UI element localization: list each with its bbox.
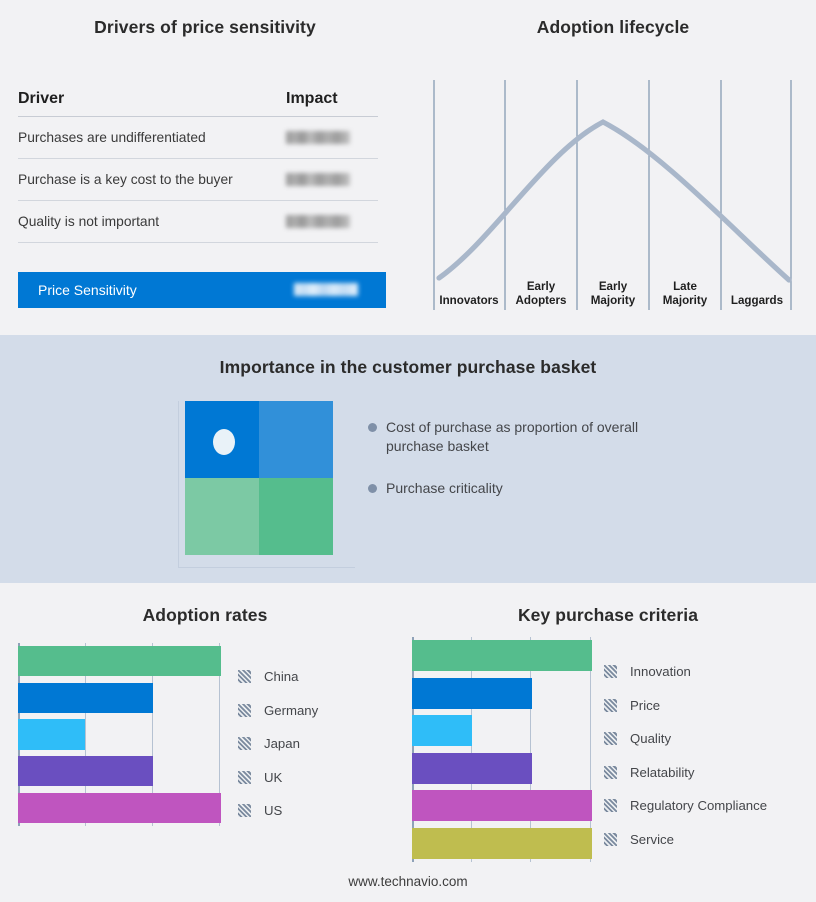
legend-item-japan: Japan bbox=[238, 727, 398, 761]
bar-slot-innovation bbox=[412, 637, 592, 675]
bar-slot-quality bbox=[412, 712, 592, 750]
legend-item-quality: Quality bbox=[604, 722, 814, 756]
bar-china bbox=[18, 646, 221, 676]
bar-slot-service bbox=[412, 825, 592, 863]
segment-line2: Majority bbox=[663, 294, 707, 308]
hatched-square-icon bbox=[238, 771, 251, 784]
legend-item-china: China bbox=[238, 660, 398, 694]
legend-item-germany: Germany bbox=[238, 694, 398, 728]
hatched-square-icon bbox=[238, 804, 251, 817]
adoption-rates-legend: China Germany Japan UK US bbox=[238, 660, 398, 828]
purchase-basket-legend: Cost of purchase as proportion of overal… bbox=[368, 418, 688, 521]
bar-price bbox=[412, 678, 532, 709]
quadrant-chart bbox=[178, 401, 354, 567]
redacted-impact-text bbox=[286, 131, 350, 144]
redacted-impact-text bbox=[294, 283, 358, 296]
hatched-square-icon bbox=[238, 704, 251, 717]
quadrant-top-right bbox=[259, 401, 333, 478]
bar-slot-regulatory bbox=[412, 787, 592, 825]
legend-label: Service bbox=[630, 832, 674, 847]
bar-service bbox=[412, 828, 592, 859]
bar-innovation bbox=[412, 640, 592, 671]
adoption-bars bbox=[18, 643, 221, 826]
legend-item-price: Price bbox=[604, 689, 814, 723]
adoption-lifecycle-title: Adoption lifecycle bbox=[410, 17, 816, 38]
segment-innovators: Innovators bbox=[433, 272, 505, 310]
legend-label: Price bbox=[630, 698, 660, 713]
purchase-basket-title: Importance in the customer purchase bask… bbox=[0, 357, 816, 378]
segment-line2: Adopters bbox=[516, 294, 567, 308]
legend-item: Purchase criticality bbox=[368, 479, 688, 498]
legend-label: Cost of purchase as proportion of overal… bbox=[386, 418, 646, 456]
lifecycle-segment-labels: Innovators Early Adopters Early Majority… bbox=[433, 272, 793, 310]
table-row: Quality is not important bbox=[18, 201, 378, 243]
table-row: Purchase is a key cost to the buyer bbox=[18, 159, 378, 201]
price-sensitivity-impact-redacted bbox=[294, 281, 386, 299]
bar-slot-japan bbox=[18, 716, 221, 753]
legend-label: Germany bbox=[264, 703, 318, 718]
drivers-panel: Drivers of price sensitivity Driver Impa… bbox=[0, 0, 410, 335]
redacted-impact-text bbox=[286, 173, 350, 186]
table-header-row: Driver Impact bbox=[18, 90, 378, 117]
bar-uk bbox=[18, 756, 153, 786]
impact-value-redacted bbox=[286, 129, 378, 147]
table-row: Purchases are undifferentiated bbox=[18, 117, 378, 159]
quadrant-bottom-left bbox=[185, 478, 259, 555]
legend-item-innovation: Innovation bbox=[604, 655, 814, 689]
hatched-square-icon bbox=[604, 799, 617, 812]
segment-early-adopters: Early Adopters bbox=[505, 272, 577, 310]
legend-item: Cost of purchase as proportion of overal… bbox=[368, 418, 688, 456]
hatched-square-icon bbox=[604, 833, 617, 846]
segment-laggards: Laggards bbox=[721, 272, 793, 310]
quadrant-bottom-right bbox=[259, 478, 333, 555]
drivers-table: Driver Impact Purchases are undifferenti… bbox=[18, 90, 378, 243]
segment-line2: Laggards bbox=[731, 294, 783, 308]
hatched-square-icon bbox=[604, 699, 617, 712]
column-header-impact: Impact bbox=[286, 90, 378, 108]
bar-slot-price bbox=[412, 675, 592, 713]
hatched-square-icon bbox=[238, 670, 251, 683]
legend-label: UK bbox=[264, 770, 282, 785]
driver-name: Purchases are undifferentiated bbox=[18, 130, 286, 145]
adoption-rates-title: Adoption rates bbox=[0, 605, 410, 626]
driver-name: Quality is not important bbox=[18, 214, 286, 229]
purchase-basket-panel: Importance in the customer purchase bask… bbox=[0, 335, 816, 583]
legend-label: Quality bbox=[630, 731, 671, 746]
bar-japan bbox=[18, 719, 85, 749]
bar-slot-us bbox=[18, 789, 221, 826]
quadrant-grid bbox=[185, 401, 333, 555]
bar-us bbox=[18, 793, 221, 823]
adoption-lifecycle-panel: Adoption lifecycle Innovators Early Adop… bbox=[410, 0, 816, 335]
legend-item-us: US bbox=[238, 794, 398, 828]
segment-line1: Late bbox=[673, 280, 697, 294]
segment-line1: Early bbox=[599, 280, 627, 294]
legend-label: Innovation bbox=[630, 664, 691, 679]
bar-regulatory-compliance bbox=[412, 790, 592, 821]
legend-item-regulatory-compliance: Regulatory Compliance bbox=[604, 789, 814, 823]
legend-label: China bbox=[264, 669, 298, 684]
key-purchase-criteria-title: Key purchase criteria bbox=[400, 605, 816, 626]
bar-germany bbox=[18, 683, 153, 713]
column-header-driver: Driver bbox=[18, 90, 286, 108]
impact-value-redacted bbox=[286, 213, 378, 231]
key-purchase-criteria-legend: Innovation Price Quality Relatability Re… bbox=[604, 655, 814, 856]
redacted-impact-text bbox=[286, 215, 350, 228]
bar-slot-china bbox=[18, 643, 221, 680]
price-sensitivity-highlight-row: Price Sensitivity bbox=[18, 272, 386, 308]
legend-label: Regulatory Compliance bbox=[630, 798, 767, 813]
adoption-rates-plot-area bbox=[18, 643, 221, 826]
legend-label: Relatability bbox=[630, 765, 695, 780]
legend-item-uk: UK bbox=[238, 761, 398, 795]
drivers-title: Drivers of price sensitivity bbox=[0, 17, 410, 38]
hatched-square-icon bbox=[604, 766, 617, 779]
legend-bullet-icon bbox=[368, 484, 377, 493]
quadrant-marker-dot bbox=[213, 429, 235, 455]
hatched-square-icon bbox=[604, 732, 617, 745]
segment-late-majority: Late Majority bbox=[649, 272, 721, 310]
legend-item-service: Service bbox=[604, 823, 814, 857]
hatched-square-icon bbox=[604, 665, 617, 678]
price-sensitivity-label: Price Sensitivity bbox=[18, 282, 294, 298]
criteria-bars bbox=[412, 637, 592, 862]
legend-label: Japan bbox=[264, 736, 300, 751]
key-purchase-criteria-plot-area bbox=[412, 637, 592, 862]
bar-slot-relatability bbox=[412, 750, 592, 788]
segment-line2: Majority bbox=[591, 294, 635, 308]
segment-line1: Early bbox=[527, 280, 555, 294]
bar-quality bbox=[412, 715, 472, 746]
impact-value-redacted bbox=[286, 171, 378, 189]
bar-slot-germany bbox=[18, 680, 221, 717]
footer-url: www.technavio.com bbox=[0, 874, 816, 889]
adoption-bell-curve bbox=[439, 122, 789, 280]
hatched-square-icon bbox=[238, 737, 251, 750]
bar-slot-uk bbox=[18, 753, 221, 790]
bar-relatability bbox=[412, 753, 532, 784]
segment-line2: Innovators bbox=[439, 294, 498, 308]
legend-bullet-icon bbox=[368, 423, 377, 432]
driver-name: Purchase is a key cost to the buyer bbox=[18, 172, 286, 187]
segment-early-majority: Early Majority bbox=[577, 272, 649, 310]
quadrant-top-left bbox=[185, 401, 259, 478]
legend-label: US bbox=[264, 803, 282, 818]
legend-item-relatability: Relatability bbox=[604, 756, 814, 790]
legend-label: Purchase criticality bbox=[386, 479, 503, 498]
